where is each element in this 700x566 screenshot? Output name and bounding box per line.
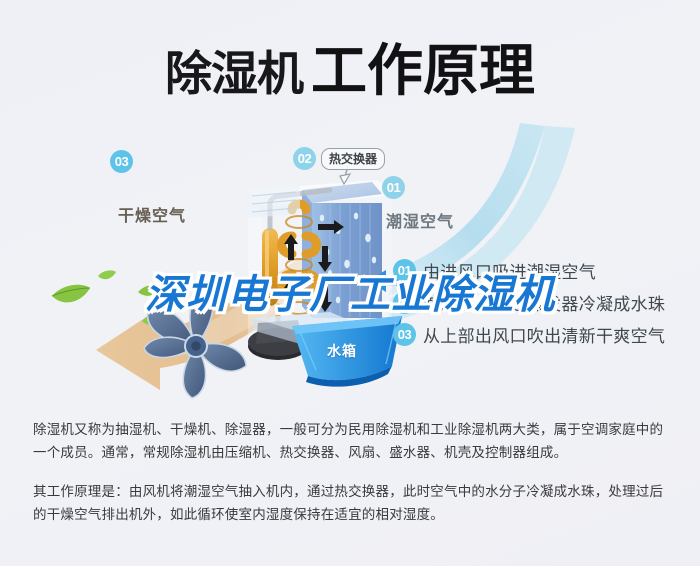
step-badge: 03 bbox=[393, 323, 416, 346]
step-list: 01 由进风口吸进潮湿空气 02 潮湿空气经过蒸发器冷凝成水珠 03 从上部出风… bbox=[393, 256, 693, 352]
step-badge: 02 bbox=[393, 291, 416, 314]
list-item: 01 由进风口吸进潮湿空气 bbox=[393, 256, 693, 288]
label-dry-air: 干燥空气 bbox=[118, 202, 186, 226]
infographic-page: 除湿机工作原理 bbox=[0, 0, 700, 566]
step-text: 潮湿空气经过蒸发器冷凝成水珠 bbox=[423, 290, 665, 315]
label-water-tank: 水箱 bbox=[327, 341, 357, 361]
paragraph-principle: 其工作原理是：由风机将潮湿空气抽入机内，通过热交换器，此时空气中的水分子冷凝成水… bbox=[33, 480, 673, 526]
badge-humid-air: 01 bbox=[382, 176, 405, 199]
title-part-1: 除湿机 bbox=[165, 47, 303, 100]
step-text: 从上部出风口吹出清新干爽空气 bbox=[423, 322, 665, 347]
title-part-2: 工作原理 bbox=[311, 39, 535, 102]
list-item: 03 从上部出风口吹出清新干爽空气 bbox=[393, 320, 693, 352]
page-title: 除湿机工作原理 bbox=[0, 26, 700, 107]
label-humid-air: 潮湿空气 bbox=[386, 208, 454, 232]
badge-dry-air: 03 bbox=[110, 150, 133, 173]
step-text: 由进风口吸进潮湿空气 bbox=[423, 258, 596, 283]
list-item: 02 潮湿空气经过蒸发器冷凝成水珠 bbox=[393, 288, 693, 320]
badge-heat-exchanger: 02 bbox=[293, 147, 316, 170]
body-copy: 除湿机又称为抽湿机、干燥机、除湿器，一般可分为民用除湿机和工业除湿机两大类，属于… bbox=[33, 418, 673, 542]
air-outlet-duct bbox=[248, 186, 300, 218]
callout-heat-exchanger: 热交换器 bbox=[321, 148, 385, 170]
step-badge: 01 bbox=[393, 259, 416, 282]
paragraph-definition: 除湿机又称为抽湿机、干燥机、除湿器，一般可分为民用除湿机和工业除湿机两大类，属于… bbox=[33, 418, 673, 464]
